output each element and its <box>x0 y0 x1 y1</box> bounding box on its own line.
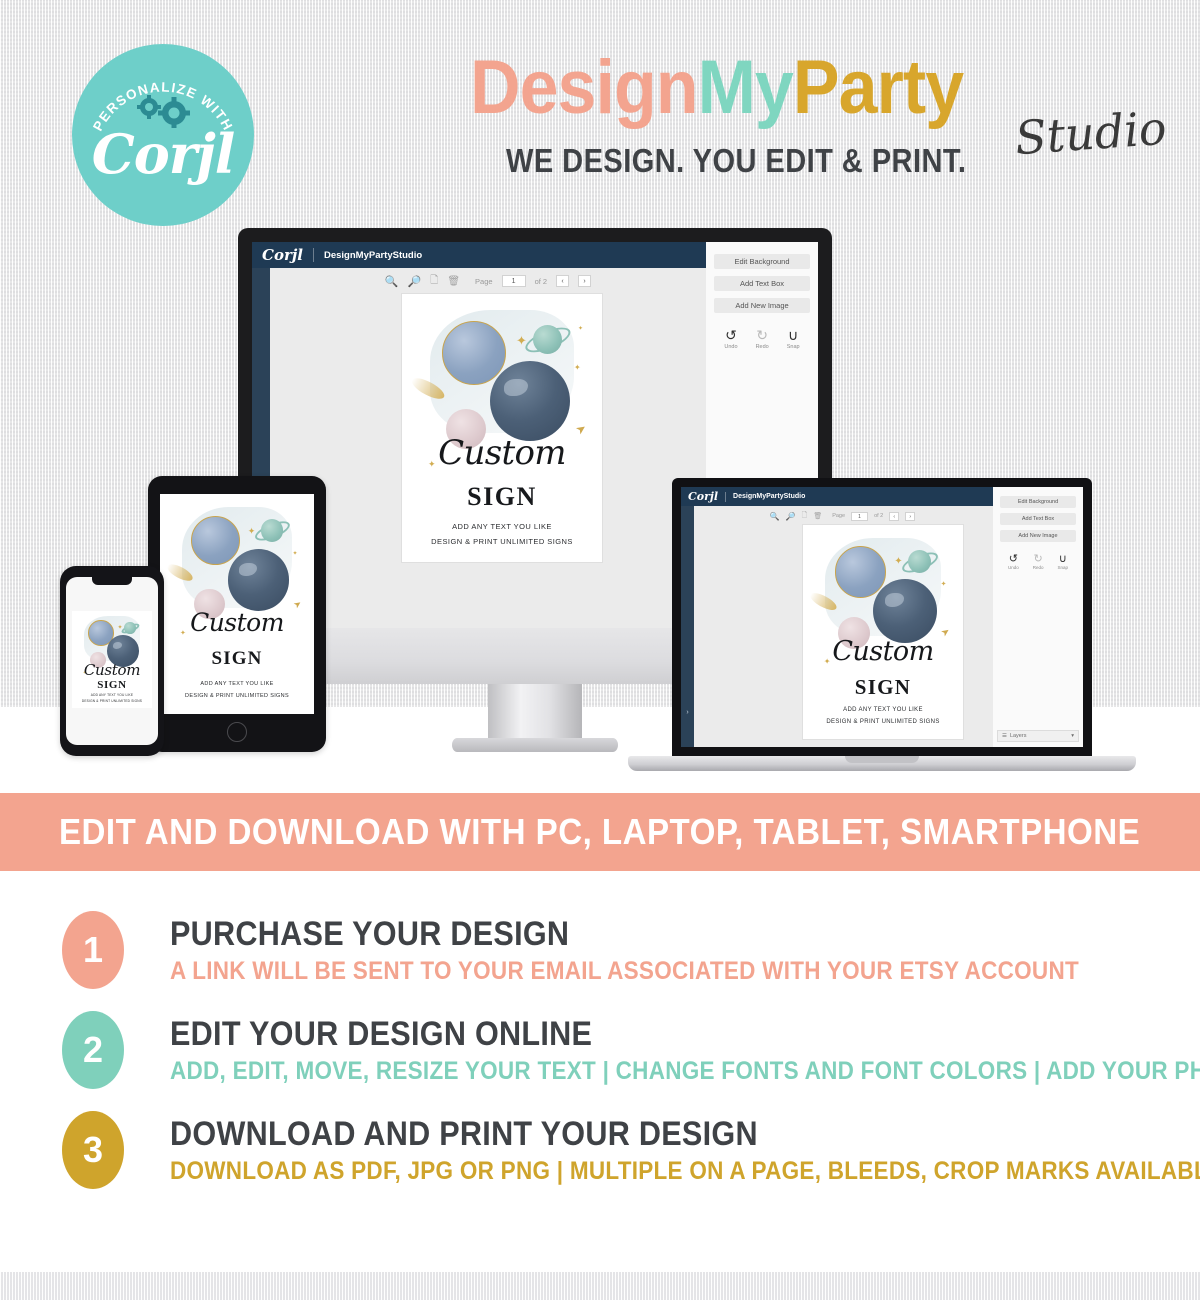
undo-label: Undo <box>724 344 737 350</box>
design-sign-text: SIGN <box>160 648 314 670</box>
page-total-label: of 2 <box>874 513 883 519</box>
design-line-2: DESIGN & PRINT UNLIMITED SIGNS <box>402 537 602 546</box>
steps-section: 1 PURCHASE YOUR DESIGN A LINK WILL BE SE… <box>0 900 1200 1200</box>
redo-icon: ↻ <box>1033 552 1044 565</box>
step-title: EDIT YOUR DESIGN ONLINE <box>170 1015 1200 1053</box>
sign-artwork: ✦ ✦ ✦ ✦ ➤ Custom SIGN ADD ANY TEXT YOU L… <box>402 294 602 562</box>
planet-saturn <box>526 318 570 362</box>
monitor-foot <box>452 738 618 752</box>
editor-tool-row: ↺ Undo ↻ Redo ∪ Snap <box>706 327 818 350</box>
topbar-divider <box>313 248 314 262</box>
add-text-box-button[interactable]: Add Text Box <box>714 276 810 291</box>
step-item-2: 2 EDIT YOUR DESIGN ONLINE ADD, EDIT, MOV… <box>0 1000 1200 1100</box>
saturn-body <box>533 325 562 354</box>
snap-icon: ∪ <box>1058 552 1069 565</box>
sign-artwork: ✦ ✦ Custom SIGN ADD ANY TEXT YOU LIKE DE… <box>72 611 151 708</box>
star-icon: ✦ <box>248 527 256 536</box>
step-title: DOWNLOAD AND PRINT YOUR DESIGN <box>170 1115 1200 1153</box>
page-total-label: of 2 <box>535 277 548 286</box>
design-script-text: Custom <box>402 433 602 473</box>
edit-background-button[interactable]: Edit Background <box>1000 496 1076 508</box>
snap-label: Snap <box>787 344 800 350</box>
star-icon: ✦ <box>292 551 297 557</box>
design-script-text: Custom <box>72 661 151 679</box>
add-new-image-button[interactable]: Add New Image <box>714 298 810 313</box>
saturn-body <box>261 519 283 541</box>
next-page-button[interactable]: › <box>578 275 591 287</box>
step-number-badge: 2 <box>62 1011 124 1089</box>
snap-label: Snap <box>1058 565 1069 570</box>
zoom-in-icon[interactable]: 🔍 <box>385 275 399 288</box>
editor-toolbar: 🔍 🔎 🗋 🗑 Page 1 of 2 ‹ › <box>270 272 706 290</box>
star-icon: ✦ <box>574 364 581 372</box>
planet-dark <box>873 579 937 643</box>
design-line-1: ADD ANY TEXT YOU LIKE <box>72 693 151 697</box>
zoom-out-icon[interactable]: 🔎 <box>408 275 422 288</box>
editor-account-name: DesignMyPartyStudio <box>324 250 422 261</box>
brand-tagline: WE DESIGN. YOU EDIT & PRINT. <box>506 142 1090 180</box>
brand-word-design: Design <box>470 45 698 130</box>
redo-button[interactable]: ↻ Redo <box>1033 552 1044 570</box>
design-line-2: DESIGN & PRINT UNLIMITED SIGNS <box>72 699 151 703</box>
editor-side-panel: Edit Background Add Text Box Add New Ima… <box>993 487 1083 747</box>
redo-button[interactable]: ↻ Redo <box>756 327 769 350</box>
badge-brand-name: Corjl <box>72 122 254 186</box>
undo-icon: ↺ <box>1008 552 1019 565</box>
panel-expand-icon[interactable]: › <box>681 709 694 716</box>
step-number-badge: 3 <box>62 1111 124 1189</box>
brand-header: DesignMyParty Studio WE DESIGN. YOU EDIT… <box>470 50 1170 180</box>
snap-button[interactable]: ∪ Snap <box>787 327 800 350</box>
corjl-editor-laptop: Corjl DesignMyPartyStudio › 🔍 🔎 🗋 🗑 Page… <box>681 487 1083 747</box>
star-icon: ✦ <box>578 326 583 332</box>
editor-tool-row: ↺ Undo ↻ Redo ∪ Snap <box>993 552 1083 570</box>
snap-icon: ∪ <box>787 327 800 344</box>
sign-artwork: ✦ ✦ ✦ ➤ Custom SIGN ADD ANY TEXT YOU LIK… <box>803 525 963 739</box>
step-description: A LINK WILL BE SENT TO YOUR EMAIL ASSOCI… <box>170 957 1079 985</box>
phone-screen[interactable]: ✦ ✦ Custom SIGN ADD ANY TEXT YOU LIKE DE… <box>66 577 158 745</box>
planet-blue <box>835 546 886 597</box>
planet-blue <box>442 321 506 385</box>
phone-device: ✦ ✦ Custom SIGN ADD ANY TEXT YOU LIKE DE… <box>60 566 164 756</box>
tablet-device: ✦ ✦ ✦ ➤ Custom SIGN ADD ANY TEXT YOU LIK… <box>148 476 326 752</box>
planet-dark <box>490 361 570 441</box>
layers-bar[interactable]: ☰ Layers ▾ <box>997 730 1079 742</box>
design-line-2: DESIGN & PRINT UNLIMITED SIGNS <box>803 719 963 725</box>
design-script-text: Custom <box>160 608 314 637</box>
design-line-1: ADD ANY TEXT YOU LIKE <box>803 707 963 713</box>
zoom-out-icon[interactable]: 🔎 <box>786 512 796 521</box>
step-body: PURCHASE YOUR DESIGN A LINK WILL BE SENT… <box>170 915 1180 985</box>
step-body: EDIT YOUR DESIGN ONLINE ADD, EDIT, MOVE,… <box>170 1015 1200 1085</box>
step-item-3: 3 DOWNLOAD AND PRINT YOUR DESIGN DOWNLOA… <box>0 1100 1200 1200</box>
topbar-divider <box>725 492 726 502</box>
step-description: DOWNLOAD AS PDF, JPG OR PNG | MULTIPLE O… <box>170 1157 1200 1185</box>
step-body: DOWNLOAD AND PRINT YOUR DESIGN DOWNLOAD … <box>170 1115 1200 1185</box>
edit-background-button[interactable]: Edit Background <box>714 254 810 269</box>
design-sign-text: SIGN <box>402 482 602 512</box>
design-script-text: Custom <box>803 636 963 667</box>
design-line-1: ADD ANY TEXT YOU LIKE <box>402 522 602 531</box>
star-icon: ✦ <box>118 625 123 631</box>
editor-account-name: DesignMyPartyStudio <box>733 493 805 500</box>
editor-left-rail[interactable]: › <box>681 506 694 747</box>
step-title: PURCHASE YOUR DESIGN <box>170 915 1079 953</box>
trash-icon[interactable]: 🗑 <box>813 512 822 520</box>
step-item-1: 1 PURCHASE YOUR DESIGN A LINK WILL BE SE… <box>0 900 1200 1000</box>
tablet-screen[interactable]: ✦ ✦ ✦ ➤ Custom SIGN ADD ANY TEXT YOU LIK… <box>160 494 314 714</box>
tablet-home-button[interactable] <box>227 722 247 742</box>
editor-toolbar: 🔍 🔎 🗋 🗑 Page 1 of 2 ‹ › <box>694 509 991 523</box>
page-label: Page <box>475 277 493 286</box>
devices-banner: EDIT AND DOWNLOAD WITH PC, LAPTOP, TABLE… <box>0 793 1200 871</box>
duplicate-icon[interactable]: 🗋 <box>802 511 808 522</box>
laptop-screen: Corjl DesignMyPartyStudio › 🔍 🔎 🗋 🗑 Page… <box>681 487 1083 747</box>
bottom-linen-strip <box>0 1272 1200 1300</box>
chevron-down-icon[interactable]: ▾ <box>1071 733 1074 739</box>
design-line-2: DESIGN & PRINT UNLIMITED SIGNS <box>160 693 314 699</box>
design-canvas-desktop[interactable]: ✦ ✦ ✦ ✦ ➤ Custom SIGN ADD ANY TEXT YOU L… <box>402 294 602 562</box>
brand-word-party: Party <box>793 45 963 130</box>
design-sign-text: SIGN <box>803 675 963 700</box>
layers-label: Layers <box>1010 733 1027 739</box>
layers-icon: ☰ <box>1002 733 1007 739</box>
planet-blue <box>191 516 240 565</box>
add-new-image-button[interactable]: Add New Image <box>1000 530 1076 542</box>
design-line-1: ADD ANY TEXT YOU LIKE <box>160 681 314 687</box>
redo-icon: ↻ <box>756 327 769 344</box>
redo-label: Redo <box>756 344 769 350</box>
laptop-base-notch <box>845 756 919 763</box>
undo-button[interactable]: ↺ Undo <box>724 327 737 350</box>
star-icon: ✦ <box>516 334 527 347</box>
corjl-logo[interactable]: Corjl <box>262 246 303 264</box>
corjl-badge: PERSONALIZE WITH Corjl <box>72 44 254 226</box>
prev-page-button[interactable]: ‹ <box>556 275 569 287</box>
star-icon: ✦ <box>941 581 947 588</box>
saturn-body <box>124 622 135 633</box>
next-page-button[interactable]: › <box>905 512 915 521</box>
sign-artwork: ✦ ✦ ✦ ➤ Custom SIGN ADD ANY TEXT YOU LIK… <box>160 494 314 714</box>
redo-label: Redo <box>1033 565 1044 570</box>
monitor-neck <box>488 684 582 742</box>
corjl-logo[interactable]: Corjl <box>688 490 718 503</box>
devices-banner-text: EDIT AND DOWNLOAD WITH PC, LAPTOP, TABLE… <box>59 811 1140 853</box>
design-sign-text: SIGN <box>72 679 151 691</box>
page-number-input[interactable]: 1 <box>502 275 526 287</box>
design-canvas-laptop[interactable]: ✦ ✦ ✦ ➤ Custom SIGN ADD ANY TEXT YOU LIK… <box>803 525 963 739</box>
planet-saturn <box>255 514 289 548</box>
star-icon: ✦ <box>894 557 902 567</box>
phone-notch <box>92 577 132 585</box>
prev-page-button[interactable]: ‹ <box>889 512 899 521</box>
page-number-input[interactable]: 1 <box>851 512 868 521</box>
zoom-in-icon[interactable]: 🔍 <box>770 512 780 521</box>
step-description: ADD, EDIT, MOVE, RESIZE YOUR TEXT | CHAN… <box>170 1057 1200 1085</box>
planet-dark <box>228 549 290 611</box>
page-label: Page <box>832 513 845 519</box>
trash-icon[interactable]: 🗑 <box>447 276 460 287</box>
add-text-box-button[interactable]: Add Text Box <box>1000 513 1076 525</box>
saturn-body <box>908 550 931 573</box>
phone-artwork-frame: ✦ ✦ Custom SIGN ADD ANY TEXT YOU LIKE DE… <box>72 611 151 708</box>
duplicate-icon[interactable]: 🗋 <box>430 273 438 290</box>
undo-button[interactable]: ↺ Undo <box>1008 552 1019 570</box>
snap-button[interactable]: ∪ Snap <box>1058 552 1069 570</box>
step-number-badge: 1 <box>62 911 124 989</box>
laptop-device: Corjl DesignMyPartyStudio › 🔍 🔎 🗋 🗑 Page… <box>672 478 1092 756</box>
undo-label: Undo <box>1008 565 1019 570</box>
undo-icon: ↺ <box>724 327 737 344</box>
planet-saturn <box>902 544 937 579</box>
brand-word-my: My <box>698 45 793 130</box>
